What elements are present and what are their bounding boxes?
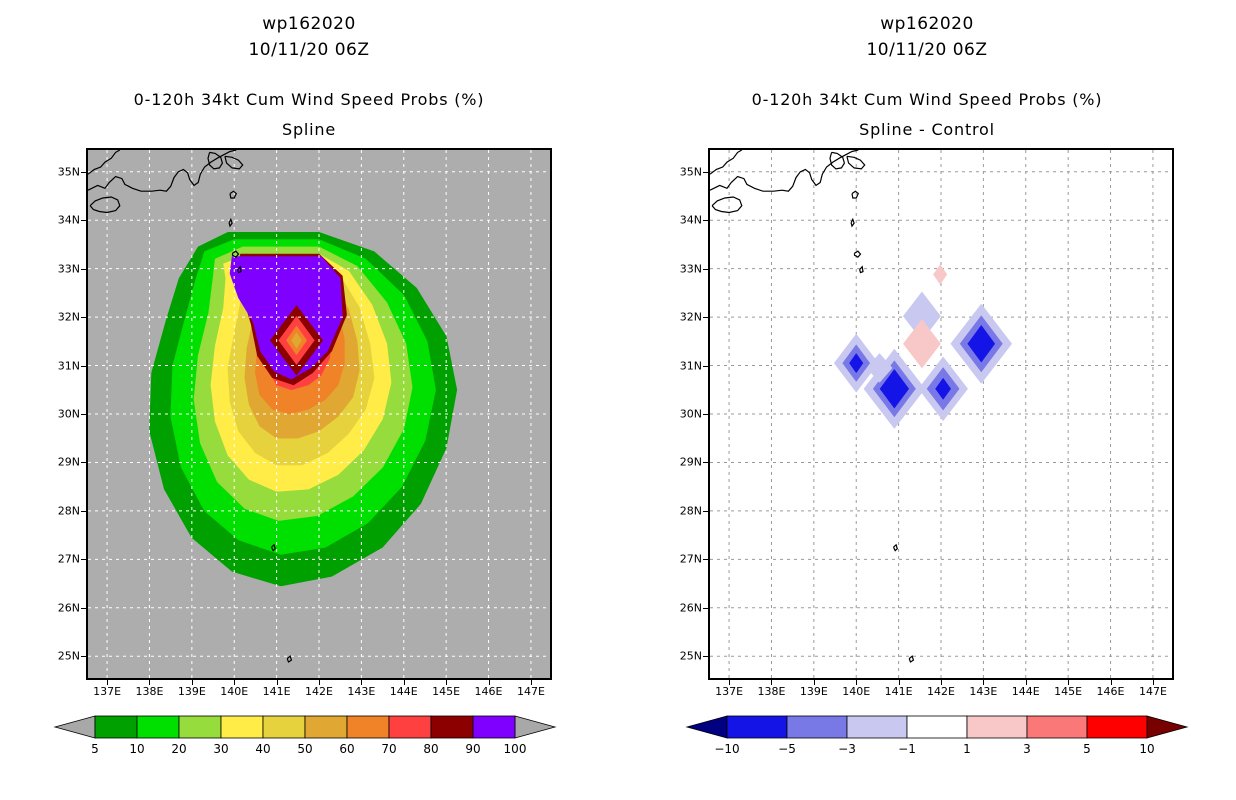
colorbar-tick-label: 10: [129, 742, 144, 756]
x-axis-tick-label: 147E: [517, 685, 545, 698]
colorbar-tick-label: 3: [1023, 742, 1031, 756]
y-axis-tick: [81, 559, 86, 560]
x-axis-tick: [1111, 680, 1112, 685]
y-axis-tick: [81, 656, 86, 657]
colorbar-high-cap: [515, 716, 555, 738]
x-axis-tick-label: 142E: [305, 685, 333, 698]
y-axis-tick-label: 27N: [662, 553, 702, 566]
x-axis-tick-label: 145E: [432, 685, 460, 698]
x-axis-tick: [771, 680, 772, 685]
x-axis-tick-label: 140E: [842, 685, 870, 698]
x-axis-tick-label: 141E: [885, 685, 913, 698]
x-axis-tick: [1153, 680, 1154, 685]
colorbar-tick-label: −5: [778, 742, 796, 756]
x-axis-tick: [489, 680, 490, 685]
y-axis-tick: [703, 462, 708, 463]
colorbar-tick-label: 60: [339, 742, 354, 756]
y-axis-tick-label: 26N: [662, 601, 702, 614]
colorbar-segment: [389, 716, 431, 738]
x-axis-tick: [1068, 680, 1069, 685]
storm-id-left: wp162020: [0, 14, 618, 34]
colorbar-segment: [907, 716, 967, 738]
y-axis-tick-label: 32N: [662, 311, 702, 324]
y-axis-tick-label: 28N: [40, 504, 80, 517]
main-title-right: 0-120h 34kt Cum Wind Speed Probs (%): [618, 90, 1236, 109]
colorbar-segment: [1087, 716, 1147, 738]
subtitle-left: Spline: [0, 120, 618, 139]
colorbar-difference: −10−5−3−113510: [672, 712, 1202, 772]
y-axis-tick-label: 33N: [40, 262, 80, 275]
colorbar-tick-label: 1: [963, 742, 971, 756]
y-axis-tick-label: 34N: [40, 214, 80, 227]
x-axis-tick: [107, 680, 108, 685]
y-axis-tick: [81, 172, 86, 173]
x-axis-tick-label: 143E: [969, 685, 997, 698]
colorbar-segment: [263, 716, 305, 738]
colorbar-low-cap: [687, 716, 727, 738]
colorbar-segment: [95, 716, 137, 738]
contour-field-spline: [88, 150, 550, 678]
y-axis-tick-label: 31N: [662, 359, 702, 372]
y-axis-tick-label: 29N: [40, 456, 80, 469]
y-axis-tick-label: 30N: [40, 408, 80, 421]
colorbar-tick-label: 10: [1139, 742, 1154, 756]
colorbar-tick-label: 40: [255, 742, 270, 756]
y-axis-tick: [81, 462, 86, 463]
anomaly-cells: [834, 265, 1012, 429]
y-axis-tick-label: 32N: [40, 311, 80, 324]
y-axis-tick-label: 33N: [662, 262, 702, 275]
probability-contours: [150, 232, 457, 586]
x-axis-tick-label: 141E: [263, 685, 291, 698]
y-axis-tick: [81, 366, 86, 367]
y-axis-tick-label: 35N: [40, 165, 80, 178]
x-axis-tick: [192, 680, 193, 685]
datetime-left: 10/11/20 06Z: [0, 40, 618, 60]
x-axis-tick-label: 138E: [135, 685, 163, 698]
x-axis-tick: [1026, 680, 1027, 685]
colorbar-tick-label: 30: [213, 742, 228, 756]
colorbar-segment: [967, 716, 1027, 738]
x-axis-tick: [729, 680, 730, 685]
y-axis-tick-label: 30N: [662, 408, 702, 421]
x-axis-tick: [941, 680, 942, 685]
y-axis-tick: [703, 172, 708, 173]
y-axis-tick-label: 28N: [662, 504, 702, 517]
x-axis-tick-label: 139E: [178, 685, 206, 698]
y-axis-tick-label: 31N: [40, 359, 80, 372]
colorbar-tick-label: 70: [381, 742, 396, 756]
y-axis-tick-label: 29N: [662, 456, 702, 469]
storm-id-right: wp162020: [618, 14, 1236, 34]
y-axis-tick-label: 25N: [662, 650, 702, 663]
y-axis-tick: [81, 608, 86, 609]
datetime-right: 10/11/20 06Z: [618, 40, 1236, 60]
x-axis-tick: [814, 680, 815, 685]
y-axis-tick-label: 26N: [40, 601, 80, 614]
colorbar-low-cap: [55, 716, 95, 738]
colorbar-scale-difference: [672, 712, 1202, 742]
y-axis-tick-label: 34N: [662, 214, 702, 227]
y-axis-tick: [81, 220, 86, 221]
x-axis-tick: [983, 680, 984, 685]
x-axis-tick-label: 142E: [927, 685, 955, 698]
x-axis-tick-label: 145E: [1054, 685, 1082, 698]
colorbar-segment: [137, 716, 179, 738]
y-axis-tick: [703, 511, 708, 512]
y-axis-tick: [703, 269, 708, 270]
colorbar-tick-label: −10: [714, 742, 739, 756]
colorbar-tick-label: −3: [838, 742, 856, 756]
y-axis-tick-label: 25N: [40, 650, 80, 663]
x-axis-tick: [361, 680, 362, 685]
colorbar-tick-label: 50: [297, 742, 312, 756]
y-axis-tick: [703, 608, 708, 609]
colorbar-tick-label: 5: [1083, 742, 1091, 756]
colorbar-scale-probability: [40, 712, 570, 742]
colorbar-tick-label: 5: [91, 742, 99, 756]
x-axis-tick-label: 137E: [715, 685, 743, 698]
y-axis-tick: [703, 559, 708, 560]
x-axis-tick-label: 146E: [1097, 685, 1125, 698]
colorbar-segment: [1027, 716, 1087, 738]
x-axis-tick: [856, 680, 857, 685]
colorbar-spline: 5102030405060708090100: [40, 712, 570, 772]
x-axis-tick: [446, 680, 447, 685]
x-axis-tick-label: 144E: [1012, 685, 1040, 698]
y-axis-tick-label: 35N: [662, 165, 702, 178]
colorbar-segment: [431, 716, 473, 738]
colorbar-segment: [787, 716, 847, 738]
x-axis-tick: [277, 680, 278, 685]
colorbar-tick-label: 80: [423, 742, 438, 756]
x-axis-tick: [531, 680, 532, 685]
colorbar-tick-label: 100: [504, 742, 527, 756]
x-axis-tick-label: 137E: [93, 685, 121, 698]
colorbar-segment: [179, 716, 221, 738]
x-axis-tick-label: 147E: [1139, 685, 1167, 698]
colorbar-tick-label: 20: [171, 742, 186, 756]
colorbar-tick-label: −1: [898, 742, 916, 756]
colorbar-tick-label: 90: [465, 742, 480, 756]
colorbar-segment: [473, 716, 515, 738]
main-title-left: 0-120h 34kt Cum Wind Speed Probs (%): [0, 90, 618, 109]
map-plot-difference: [708, 148, 1174, 680]
colorbar-high-cap: [1147, 716, 1187, 738]
x-axis-tick-label: 143E: [347, 685, 375, 698]
x-axis-tick: [404, 680, 405, 685]
y-axis-tick: [81, 511, 86, 512]
x-axis-tick: [899, 680, 900, 685]
y-axis-tick: [81, 317, 86, 318]
y-axis-tick: [703, 220, 708, 221]
y-axis-tick: [81, 414, 86, 415]
colorbar-segment: [221, 716, 263, 738]
colorbar-segment: [347, 716, 389, 738]
difference-field: [710, 150, 1172, 678]
x-axis-tick-label: 138E: [757, 685, 785, 698]
y-axis-tick: [703, 656, 708, 657]
subtitle-right: Spline - Control: [618, 120, 1236, 139]
y-axis-tick: [703, 317, 708, 318]
colorbar-segment: [305, 716, 347, 738]
map-plot-spline: [86, 148, 552, 680]
x-axis-tick-label: 146E: [475, 685, 503, 698]
y-axis-tick: [81, 269, 86, 270]
x-axis-tick-label: 140E: [220, 685, 248, 698]
colorbar-segment: [847, 716, 907, 738]
x-axis-tick: [234, 680, 235, 685]
x-axis-tick: [149, 680, 150, 685]
x-axis-tick-label: 144E: [390, 685, 418, 698]
y-axis-tick: [703, 366, 708, 367]
y-axis-tick: [703, 414, 708, 415]
x-axis-tick: [319, 680, 320, 685]
colorbar-segment: [727, 716, 787, 738]
y-axis-tick-label: 27N: [40, 553, 80, 566]
x-axis-tick-label: 139E: [800, 685, 828, 698]
